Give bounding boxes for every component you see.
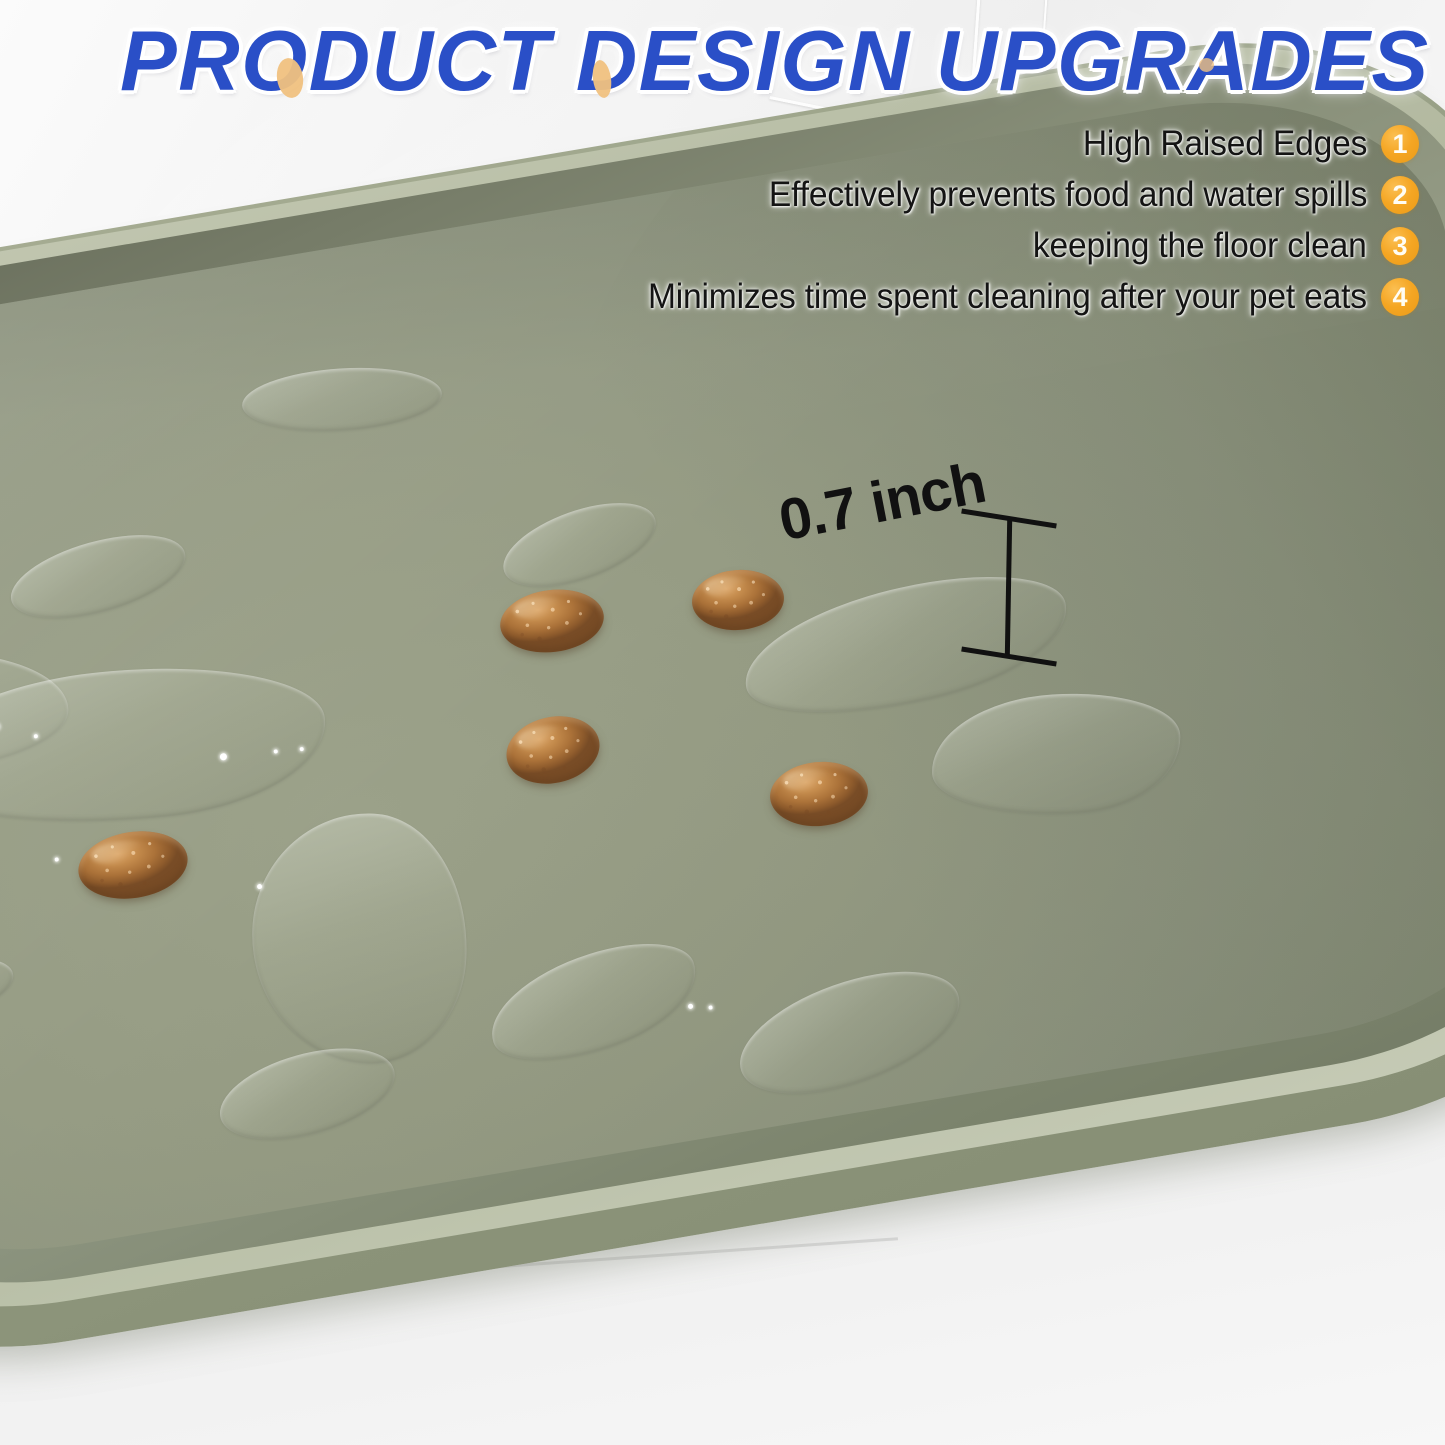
feature-number-badge: 4 (1381, 278, 1419, 316)
feature-number-badge: 3 (1381, 227, 1419, 265)
feature-label: High Raised Edges (1083, 124, 1367, 164)
feature-item-2: Effectively prevents food and water spil… (319, 169, 1419, 220)
feature-number-badge: 1 (1381, 125, 1419, 163)
kibble-highlight (703, 575, 752, 599)
feature-label: keeping the floor clean (1033, 226, 1367, 266)
feature-item-4: Minimizes time spent cleaning after your… (319, 271, 1419, 322)
pet-feeding-tray (0, 150, 1445, 1400)
feature-number-badge: 2 (1381, 176, 1419, 214)
feature-item-3: keeping the floor clean 3 (319, 220, 1419, 271)
feature-label: Minimizes time spent cleaning after your… (648, 277, 1367, 317)
page-title: PRODUCT DESIGN UPGRADES (120, 16, 1440, 116)
headline-text: PRODUCT DESIGN UPGRADES (120, 16, 1440, 108)
feature-item-1: High Raised Edges 1 (319, 118, 1419, 169)
kibble-highlight (782, 767, 835, 793)
kibble-highlight (512, 594, 568, 622)
feature-label: Effectively prevents food and water spil… (769, 175, 1367, 215)
product-feature-image: 0.7 inch PRODUCT DESIGN UPGRADES High Ra… (0, 0, 1445, 1445)
feature-list: High Raised Edges 1 Effectively prevents… (319, 118, 1419, 322)
